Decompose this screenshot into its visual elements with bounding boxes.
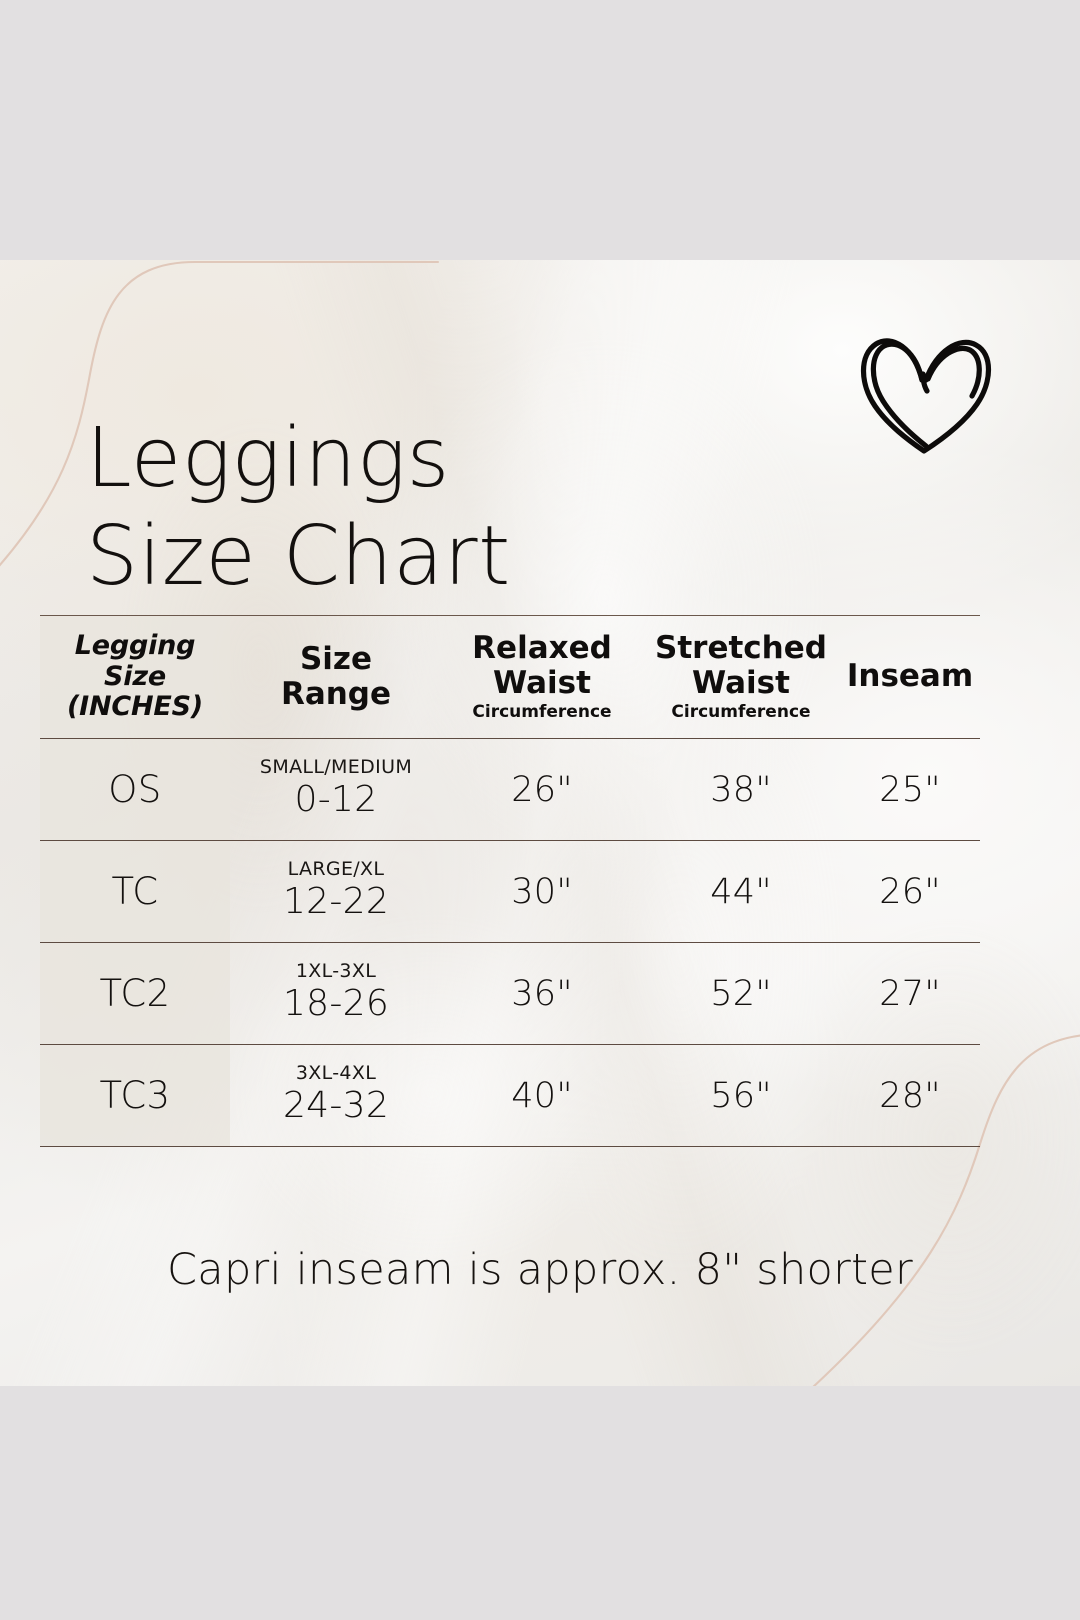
cell-size-range: SMALL/MEDIUM 0-12 (230, 739, 442, 841)
page-canvas: Leggings Size Chart Legging Size (INCHES… (0, 0, 1080, 1620)
cell-legging-size: TC3 (40, 1045, 230, 1147)
cell-stretched-waist: 38" (642, 739, 840, 841)
column-header-inseam-line1: Inseam (840, 659, 980, 694)
cell-size-range: 1XL-3XL 18-26 (230, 943, 442, 1045)
column-header-stretched-waist-sub: Circumference (642, 703, 840, 723)
cell-relaxed-waist: 40" (442, 1045, 642, 1147)
column-header-stretched-waist-line2: Waist (642, 666, 840, 701)
page-title: Leggings Size Chart (86, 410, 726, 607)
cell-inseam: 27" (840, 943, 980, 1045)
cell-inseam: 25" (840, 739, 980, 841)
size-chart-table: Legging Size (INCHES) Size Range Relaxed… (40, 615, 980, 1147)
cell-inseam: 26" (840, 841, 980, 943)
table-body: OS SMALL/MEDIUM 0-12 26" 38" 25" (40, 739, 980, 1147)
cell-stretched-waist: 44" (642, 841, 840, 943)
column-header-relaxed-waist-line1: Relaxed (442, 631, 642, 666)
column-header-legging-size-line1: Legging Size (40, 631, 230, 692)
cell-size-range: 3XL-4XL 24-32 (230, 1045, 442, 1147)
column-header-relaxed-waist-sub: Circumference (442, 703, 642, 723)
table-row: TC3 3XL-4XL 24-32 40" 56" 28" (40, 1045, 980, 1147)
column-header-legging-size-line2: (INCHES) (40, 692, 230, 723)
cell-relaxed-waist: 36" (442, 943, 642, 1045)
cell-size-range: LARGE/XL 12-22 (230, 841, 442, 943)
column-header-relaxed-waist: Relaxed Waist Circumference (442, 616, 642, 739)
column-header-legging-size: Legging Size (INCHES) (40, 616, 230, 739)
size-chart-card: Leggings Size Chart Legging Size (INCHES… (0, 260, 1080, 1386)
cell-stretched-waist: 52" (642, 943, 840, 1045)
column-header-stretched-waist-line1: Stretched (642, 631, 840, 666)
title-line-2: Size Chart (86, 508, 726, 606)
column-header-size-range-line2: Range (230, 677, 442, 712)
cell-legging-size: TC (40, 841, 230, 943)
column-header-stretched-waist: Stretched Waist Circumference (642, 616, 840, 739)
table-header-row: Legging Size (INCHES) Size Range Relaxed… (40, 616, 980, 739)
table-row: TC LARGE/XL 12-22 30" 44" 26" (40, 841, 980, 943)
cell-stretched-waist: 56" (642, 1045, 840, 1147)
table-header: Legging Size (INCHES) Size Range Relaxed… (40, 616, 980, 739)
heart-doodle-icon (848, 322, 998, 457)
column-header-inseam: Inseam (840, 616, 980, 739)
cell-inseam: 28" (840, 1045, 980, 1147)
column-header-size-range-line1: Size (230, 642, 442, 677)
column-header-size-range: Size Range (230, 616, 442, 739)
title-line-1: Leggings (86, 410, 726, 508)
cell-legging-size: TC2 (40, 943, 230, 1045)
column-header-relaxed-waist-line2: Waist (442, 666, 642, 701)
capri-inseam-note: Capri inseam is approx. 8" shorter (0, 1245, 1080, 1295)
cell-relaxed-waist: 30" (442, 841, 642, 943)
table-row: TC2 1XL-3XL 18-26 36" 52" 27" (40, 943, 980, 1045)
cell-relaxed-waist: 26" (442, 739, 642, 841)
cell-legging-size: OS (40, 739, 230, 841)
table-row: OS SMALL/MEDIUM 0-12 26" 38" 25" (40, 739, 980, 841)
